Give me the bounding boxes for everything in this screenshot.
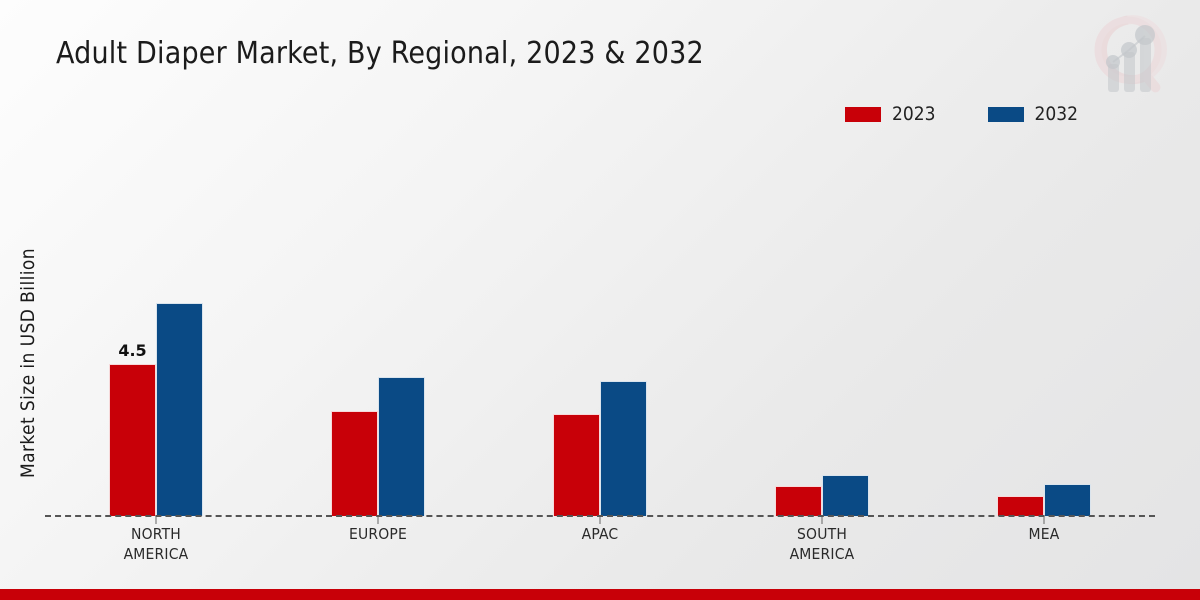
bar-pair: 4.5 [109,130,203,516]
bar-pair [997,130,1091,516]
footer-accent-strip [0,589,1200,600]
bar-2023[interactable] [997,496,1044,516]
x-axis-category-label: APAC [582,525,619,545]
bar-value-label: 4.5 [118,341,146,360]
x-axis-category-label: SOUTH AMERICA [790,525,855,565]
chart-legend: 2023 2032 [845,103,1078,125]
bar-2032[interactable] [600,381,647,516]
x-axis-tick [600,517,601,524]
bar-2032[interactable] [1044,484,1091,516]
legend-label-2032: 2032 [1035,103,1079,125]
y-axis-title: Market Size in USD Billion [17,193,39,533]
bar-2032[interactable] [822,475,869,516]
bar-groups: 4.5NORTH AMERICAEUROPEAPACSOUTH AMERICAM… [45,130,1155,516]
bar-2032[interactable] [156,303,203,516]
x-axis-tick [1044,517,1045,524]
x-axis-category-label: MEA [1029,525,1060,545]
magnifier-bar-chart-logo-icon [1082,12,1178,100]
legend-item-2023[interactable]: 2023 [845,103,936,125]
chart-plot-area: 4.5NORTH AMERICAEUROPEAPACSOUTH AMERICAM… [45,130,1155,516]
legend-item-2032[interactable]: 2032 [988,103,1079,125]
legend-swatch-2032 [988,107,1024,122]
bar-pair [331,130,425,516]
x-axis-baseline [45,515,1155,517]
bar-group: EUROPE [267,130,489,516]
page-title: Adult Diaper Market, By Regional, 2023 &… [56,36,704,71]
x-axis-tick [378,517,379,524]
bar-group: APAC [489,130,711,516]
bar-2023[interactable] [775,486,822,516]
x-axis-category-label: NORTH AMERICA [124,525,189,565]
bar-2023[interactable] [553,414,600,516]
x-axis-tick [822,517,823,524]
x-axis-category-label: EUROPE [349,525,407,545]
bar-pair [553,130,647,516]
x-axis-tick [156,517,157,524]
bar-group: MEA [933,130,1155,516]
bar-group: 4.5NORTH AMERICA [45,130,267,516]
bar-pair [775,130,869,516]
legend-label-2023: 2023 [892,103,936,125]
bar-2032[interactable] [378,377,425,516]
bar-2023[interactable]: 4.5 [109,364,156,516]
legend-swatch-2023 [845,107,881,122]
bar-2023[interactable] [331,411,378,516]
bar-group: SOUTH AMERICA [711,130,933,516]
